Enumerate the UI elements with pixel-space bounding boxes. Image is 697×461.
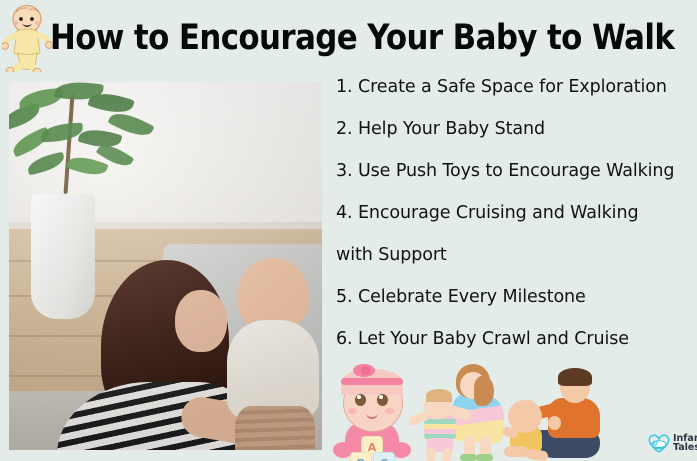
walk-mother-shoe-left xyxy=(460,454,477,461)
list-item: 2. Help Your Baby Stand xyxy=(336,118,694,160)
page-title: How to Encourage Your Baby to Walk xyxy=(50,16,674,60)
infographic-page: How to Encourage Your Baby to Walk xyxy=(0,0,697,461)
hero-photo xyxy=(9,82,322,450)
brand-logo[interactable]: Infant Tales xyxy=(648,430,697,456)
abc-baby-bow xyxy=(353,364,375,377)
block-c: C xyxy=(373,452,395,461)
list-item-continuation: with Support xyxy=(336,244,694,286)
abc-baby-eye-left xyxy=(355,394,366,406)
walk-mother-hair-back xyxy=(474,376,494,406)
list-item: 5. Celebrate Every Milestone xyxy=(336,286,694,328)
abc-baby-cheek-right xyxy=(385,408,394,414)
header: How to Encourage Your Baby to Walk xyxy=(0,0,697,76)
father-encouraging-baby-illustration xyxy=(508,366,628,460)
sitting-baby-leg-left xyxy=(504,446,528,457)
list-item: 1. Create a Safe Space for Exploration xyxy=(336,76,694,118)
brand-name: Infant Tales xyxy=(673,434,697,453)
walk-baby-leg-left xyxy=(426,448,436,461)
brand-line-2: Tales xyxy=(673,443,697,453)
list-item: 3. Use Push Toys to Encourage Walking xyxy=(336,160,694,202)
baby-with-abc-blocks-illustration: A B C xyxy=(333,364,411,460)
mother-helping-baby-walk-illustration xyxy=(412,362,512,460)
abc-baby-eye-right xyxy=(377,394,388,406)
walk-baby-leg-right xyxy=(441,447,454,461)
father-hair xyxy=(558,368,592,386)
sitting-baby-leg-right xyxy=(525,449,548,461)
list-item: 4. Encourage Cruising and Walking xyxy=(336,202,694,244)
block-b: B xyxy=(350,452,372,461)
walking-baby-icon xyxy=(2,2,54,72)
illustration-strip: A B C xyxy=(330,360,697,461)
infant-tales-heart-icon xyxy=(648,433,670,453)
walk-baby-hair xyxy=(426,389,452,402)
abc-baby-headband xyxy=(341,378,403,385)
abc-baby-cheek-left xyxy=(348,408,357,414)
photo-lighting-overlay xyxy=(9,82,322,450)
father-hand xyxy=(548,416,561,430)
walk-mother-shoe-right xyxy=(476,454,493,461)
tips-list: 1. Create a Safe Space for Exploration 2… xyxy=(336,76,694,370)
